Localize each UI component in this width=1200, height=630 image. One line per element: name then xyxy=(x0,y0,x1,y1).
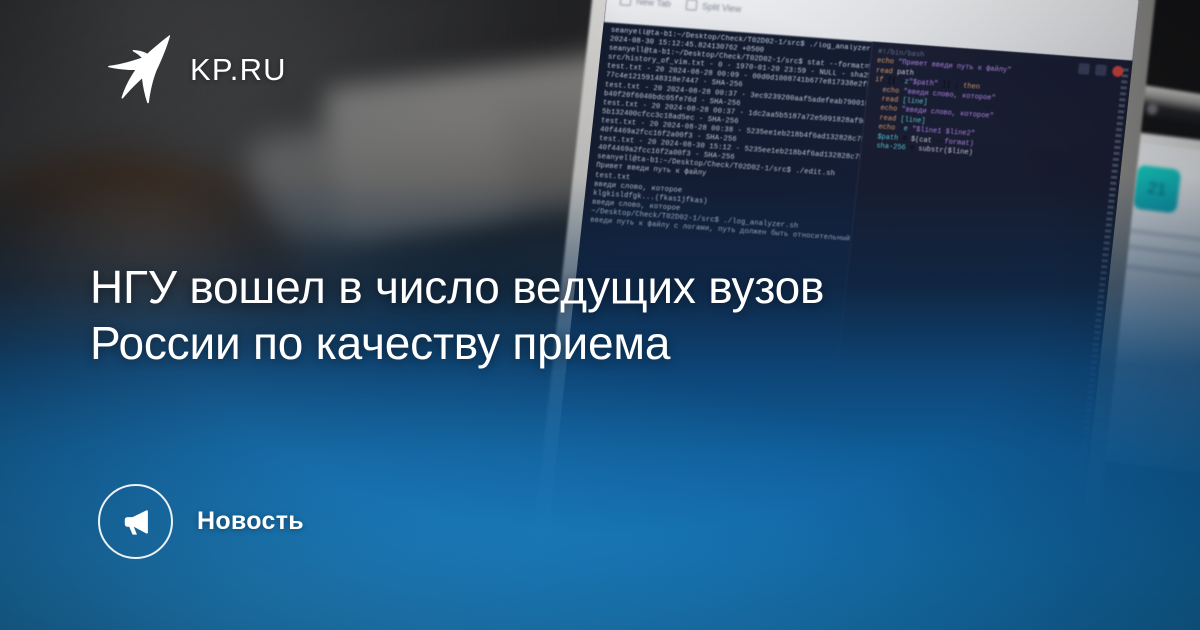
headline-line-2: России по качеству приема xyxy=(90,317,670,369)
megaphone-icon xyxy=(118,504,154,540)
badge-icon-circle xyxy=(98,484,173,559)
card-content: KP.RU НГУ вошел в число ведущих вузовРос… xyxy=(0,0,1200,630)
brand-name: KP.RU xyxy=(190,54,287,85)
page-title: НГУ вошел в число ведущих вузовРоссии по… xyxy=(90,259,990,371)
brand-logo[interactable]: KP.RU xyxy=(108,34,287,104)
swallow-bird-icon xyxy=(108,34,170,104)
badge-label: Новость xyxy=(197,507,304,536)
headline-line-1: НГУ вошел в число ведущих вузов xyxy=(90,261,824,313)
status-badge[interactable]: Новость xyxy=(98,484,304,559)
news-share-card: New Tab Split View seanyell@ta-b1:~/Desk… xyxy=(0,0,1200,630)
